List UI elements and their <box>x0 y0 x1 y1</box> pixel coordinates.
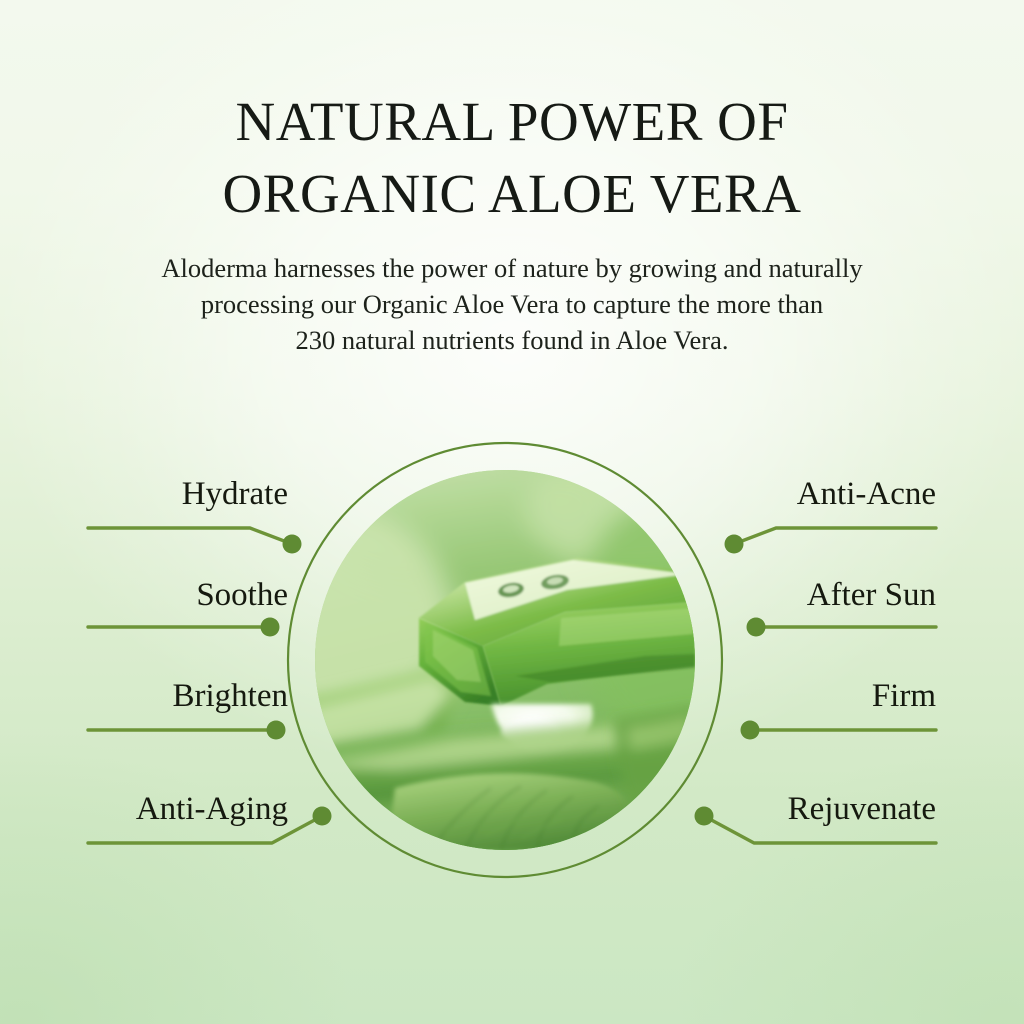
page-title: NATURAL POWER OF ORGANIC ALOE VERA <box>0 86 1024 230</box>
benefit-label-after-sun[interactable]: After Sun <box>736 575 936 615</box>
title-line-2: ORGANIC ALOE VERA <box>0 158 1024 230</box>
benefit-label-soothe[interactable]: Soothe <box>88 575 288 615</box>
aloe-vera-photo-illustration <box>315 470 695 850</box>
benefit-label-anti-acne[interactable]: Anti-Acne <box>736 474 936 514</box>
aloe-vera-photo <box>315 470 695 850</box>
subtitle-line-3: 230 natural nutrients found in Aloe Vera… <box>0 322 1024 358</box>
title-line-1: NATURAL POWER OF <box>0 86 1024 158</box>
page-subtitle: Aloderma harnesses the power of nature b… <box>0 250 1024 358</box>
subtitle-line-2: processing our Organic Aloe Vera to capt… <box>0 286 1024 322</box>
benefit-label-brighten[interactable]: Brighten <box>88 676 288 716</box>
benefit-label-hydrate[interactable]: Hydrate <box>88 474 288 514</box>
subtitle-line-1: Aloderma harnesses the power of nature b… <box>0 250 1024 286</box>
benefit-label-firm[interactable]: Firm <box>736 676 936 716</box>
benefit-label-anti-aging[interactable]: Anti-Aging <box>88 789 288 829</box>
benefit-label-rejuvenate[interactable]: Rejuvenate <box>736 789 936 829</box>
